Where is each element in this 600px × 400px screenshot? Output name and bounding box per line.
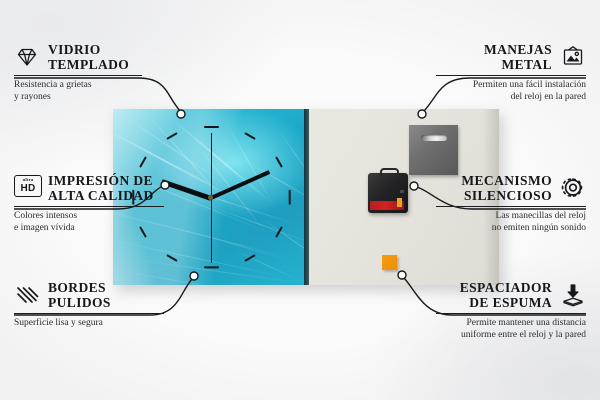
diamond-icon xyxy=(14,44,40,70)
callout-description: Las manecillas del reloj no emiten ningú… xyxy=(354,211,586,234)
feather-streak xyxy=(243,159,309,210)
feather-streak xyxy=(113,239,284,277)
clock-hour-marker xyxy=(275,156,283,167)
callout-vidrio-templado: VIDRIO TEMPLADO Resistencia a grietas y … xyxy=(14,42,246,103)
callout-bordes-pulidos: BORDES PULIDOS Superficie lisa y segura xyxy=(14,280,246,330)
title-rule xyxy=(14,206,164,207)
picture-frame-hanger-icon xyxy=(560,44,586,70)
gear-icon xyxy=(560,175,586,201)
callout-description: Permite mantener una distancia uniforme … xyxy=(354,318,586,341)
callout-title: ESPACIADOR DE ESPUMA xyxy=(460,280,552,310)
ultra-hd-icon: ultra HD xyxy=(14,175,40,201)
callout-title: MECANISMO SILENCIOSO xyxy=(461,173,552,203)
infographic-canvas: VIDRIO TEMPLADO Resistencia a grietas y … xyxy=(0,0,600,400)
callout-title: IMPRESIÓN DE ALTA CALIDAD xyxy=(48,173,154,203)
title-rule xyxy=(436,206,586,207)
metal-hanger-plate xyxy=(409,125,458,175)
callout-title: BORDES PULIDOS xyxy=(48,280,111,310)
callout-manejas-metal: MANEJAS METAL Permiten una fácil instala… xyxy=(354,42,586,103)
clock-hour-marker xyxy=(288,190,290,205)
callout-title: MANEJAS METAL xyxy=(484,42,552,72)
callout-mecanismo-silencioso: MECANISMO SILENCIOSO Las manecillas del … xyxy=(354,173,586,234)
hanger-slot xyxy=(421,135,447,141)
title-rule xyxy=(436,313,586,314)
title-rule xyxy=(14,313,164,314)
title-rule xyxy=(14,75,142,76)
callout-description: Colores intensos e imagen vívida xyxy=(14,211,246,234)
clock-hour-marker xyxy=(244,133,255,141)
clock-hour-marker xyxy=(140,156,148,167)
callout-description: Superficie lisa y segura xyxy=(14,318,246,330)
callout-impresion-alta-calidad: ultra HD IMPRESIÓN DE ALTA CALIDAD Color… xyxy=(14,173,246,234)
foam-spacer xyxy=(382,255,397,270)
callout-espaciador-espuma: ESPACIADOR DE ESPUMA Permite mantener un… xyxy=(354,280,586,341)
clock-hour-marker xyxy=(204,266,219,268)
clock-hour-marker xyxy=(166,254,177,262)
hd-icon-big-text: HD xyxy=(20,184,35,194)
arrow-down-pad-icon xyxy=(560,282,586,308)
diagonal-lines-icon xyxy=(14,282,40,308)
clock-hour-marker xyxy=(204,126,219,128)
title-rule xyxy=(436,75,586,76)
callout-description: Resistencia a grietas y rayones xyxy=(14,80,246,103)
clock-hour-marker xyxy=(166,133,177,141)
callout-title: VIDRIO TEMPLADO xyxy=(48,42,129,72)
callout-description: Permiten una fácil instalación del reloj… xyxy=(354,80,586,103)
